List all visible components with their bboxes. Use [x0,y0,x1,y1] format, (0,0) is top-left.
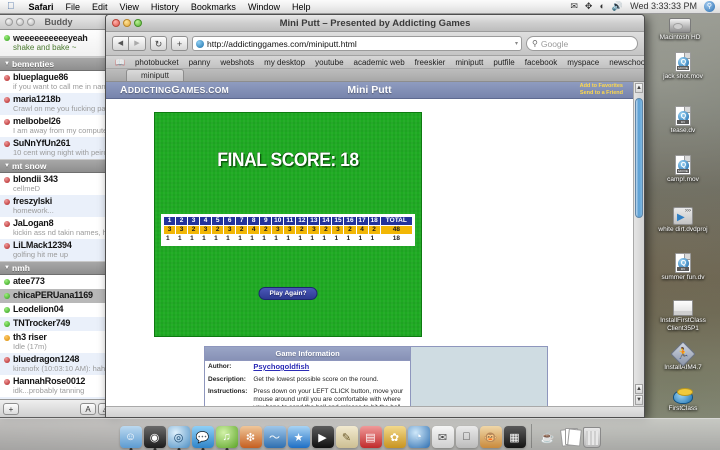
garageband-icon[interactable]: 〜 [264,426,286,448]
par-cell: 2 [344,226,356,235]
par-cell: 3 [224,226,236,235]
mail-icon[interactable]: ✉ [432,426,454,448]
desktop-icon-firstclass[interactable]: FirstClass [648,390,718,413]
buddy-row[interactable]: TNTrocker749 [0,317,117,331]
info-row-description: Description: Get the lowest possible sco… [205,374,410,386]
my-screen-name: weeeeeeeeeeyeah [13,33,113,43]
desktop-icon-summer-fun-dv[interactable]: QDV summer fun.dv [648,253,718,282]
hole-header: 7 [236,217,248,226]
hole-header: 9 [260,217,272,226]
hole-header: 13 [308,217,320,226]
buddy-row[interactable]: LiLMack12394 golfing hit me up [0,239,117,261]
par-cell: 4 [248,226,260,235]
hole-header: 2 [176,217,188,226]
desktop-icon-label: Macintosh HD [645,34,715,42]
play-again-button[interactable]: Play Again? [259,287,318,300]
desktop-icon-install-firstclass-client[interactable]: InstallFirstClass Client35P1 [648,300,718,332]
buddy-name: bluedragon1248 [13,354,115,364]
reload-icon[interactable]: ↻ [150,36,167,51]
game-information-left: Game Information Author: Psychogoldfish … [205,347,410,406]
score-cell: 1 [200,235,212,244]
hole-header: 8 [248,217,260,226]
hole-header: 15 [332,217,344,226]
score-cell: 1 [284,235,296,244]
bookmark-webshots[interactable]: webshots [215,58,259,67]
buddy-status: kiranofx (10:03:10 AM): haha, ni [13,364,115,373]
safari-window-title: Mini Putt – Presented by Addicting Games [106,18,644,29]
buddy-name: blueplague86 [13,72,115,82]
buddy-name: HannahRose0012 [13,376,115,386]
quicktime-dv-icon: QDV [675,253,691,273]
hole-header: 6 [224,217,236,226]
hole-header: 16 [344,217,356,226]
score-cell: 1 [320,235,332,244]
buddy-status: I am away from my computer right [13,126,115,135]
airport-icon[interactable]: ◐ [599,2,604,11]
web-page: ADDICTINGGAMES.COM Mini Putt Add to Favo… [106,82,633,406]
dashboard-icon[interactable]: ◉ [144,426,166,448]
buddy-name: freszylski [13,196,115,206]
back-arrow-icon[interactable]: ◀ [112,36,129,51]
desktop-icon-white-dirt-dvdproj[interactable]: white dirt.dvdproj [648,207,718,234]
ichat-icon[interactable]: 💬 [192,426,214,448]
my-screen-name-row[interactable]: weeeeeeeeeeyeah shake and bake ~ [0,30,117,57]
author-link[interactable]: Psychogoldfish [253,362,309,371]
desktop-icon-tease-dv[interactable]: QDV tease.dv [648,106,718,135]
add-buddy-button[interactable]: + [3,403,19,415]
bluetooth-icon[interactable]: ✥ [585,2,593,11]
info-label: Author: [205,361,250,374]
scorecard-par-row: 3 3 2 3 2 3 2 4 2 3 3 2 3 [164,226,413,235]
score-cell: 1 [272,235,284,244]
par-cell: 4 [356,226,368,235]
buddy-group-bementies[interactable]: ▼ bementies [0,57,117,71]
menu-item-edit[interactable]: Edit [86,2,114,12]
desktop-icon-label: tease.dv [648,127,718,135]
bookmark-youtube[interactable]: youtube [310,58,348,67]
presence-dot-idle [4,335,10,341]
buddy-name: SuNnYfUn261 [13,138,115,148]
presence-dot-online [4,321,10,327]
volume-icon[interactable]: 🔊 [612,2,623,11]
page-horizontal-scrollbar[interactable] [106,406,644,417]
buddy-status: Crawl on me you fucking parasite [13,104,115,113]
buddy-row[interactable]: th3 riser Idle (17m) [0,331,117,353]
safari-toolbar: ◀ ▶ ↻ + http://addictinggames.com/minipu… [106,32,644,56]
hole-header: 5 [212,217,224,226]
hole-header: 10 [272,217,284,226]
hole-header: 18 [368,217,380,226]
hole-header: 17 [356,217,368,226]
menubar-clock[interactable]: Wed 3:33:33 PM [630,2,697,11]
group-label: bementies [12,59,54,69]
chevron-down-icon: ▼ [4,61,10,67]
score-cell: 1 [260,235,272,244]
scorecard-table: 1 2 3 4 5 6 7 8 9 10 11 12 13 [163,216,413,244]
desktop-icon-label: InstallFirstClass Client35P1 [648,317,718,332]
buddy-status: golfing hit me up [13,250,115,259]
preview-icon[interactable]: ✿ [384,426,406,448]
group-label: mt snow [12,161,46,171]
aim-icon[interactable]: 🐵 [480,426,502,448]
buddy-status: homework... [13,206,115,215]
par-cell: 3 [308,226,320,235]
page-title: Mini Putt [106,84,633,96]
add-to-favorites-link[interactable]: Add to Favorites [580,83,623,90]
header-links: Add to Favorites Send to a Friend [580,83,623,97]
scroll-up-arrow-icon-bottom[interactable]: ▲ [635,384,643,394]
search-placeholder: Google [541,39,568,49]
game-information-panel: Game Information Author: Psychogoldfish … [204,346,548,406]
info-value: Psychogoldfish [250,361,410,374]
safari-titlebar[interactable]: Mini Putt – Presented by Addicting Games [106,15,644,32]
par-cell: 3 [200,226,212,235]
buddy-status: 10 cent wing night with peirce and [13,148,115,157]
score-cell: 1 [212,235,224,244]
scorecard-score-row: 1 1 1 1 1 1 1 1 1 1 1 1 1 [164,235,413,244]
par-cell: 3 [176,226,188,235]
buddy-row[interactable]: freszylski homework... [0,195,117,217]
dock-separator [531,424,532,448]
buddy-name: melbobel26 [13,116,115,126]
presence-dot-online [4,293,10,299]
buddy-name: TNTrocker749 [13,318,115,328]
score-cell: 1 [224,235,236,244]
tab-bar: miniputt [106,69,644,82]
score-cell: 1 [308,235,320,244]
buddylist-titlebar[interactable]: Buddy [0,15,117,30]
hole-header: 3 [188,217,200,226]
menu-item-window[interactable]: Window [242,2,286,12]
mail-icon[interactable]: ✉ [570,2,578,11]
itunes-icon[interactable]: ♫ [216,426,238,448]
buddy-row[interactable]: blueplague86 if you want to call me in n… [0,71,117,93]
score-cell: 1 [368,235,380,244]
desktop-icon-camp-mov[interactable]: QMOVIE camp!.mov [648,155,718,184]
presence-dot-away [4,199,10,205]
menu-bar:  Safari File Edit View History Bookmark… [0,0,720,14]
group-label: nmh [12,263,30,273]
scroll-up-arrow-icon[interactable]: ▲ [635,83,643,93]
firstclass-icon [673,390,693,404]
bookmark-miniputt[interactable]: miniputt [450,58,488,67]
ical-icon[interactable]: ▤ [360,426,382,448]
buddylist-footer: + A ⚠ [0,399,117,417]
buddy-name: blondii 343 [13,174,115,184]
par-cell: 2 [212,226,224,235]
hole-header: 1 [164,217,176,226]
buddy-status: idk...probably tanning [13,386,115,395]
chevron-down-icon: ▼ [4,163,10,169]
address-bar-url: http://addictinggames.com/miniputt.html [207,39,357,49]
my-away-message: shake and bake ~ [13,43,113,52]
presence-dot-away [4,221,10,227]
documents-stack-icon[interactable] [561,426,581,448]
buddy-row[interactable]: Leodelion04 [0,303,117,317]
par-total: 48 [380,226,412,235]
par-cell: 3 [164,226,176,235]
bookmark-my-desktop[interactable]: my desktop [259,58,310,67]
presence-dot-away [4,379,10,385]
bookmark-putfile[interactable]: putfile [488,58,519,67]
buddy-status: cellmeD [13,184,115,193]
buddy-name: Mark112790 [13,398,115,399]
hole-header: 12 [296,217,308,226]
par-cell: 2 [296,226,308,235]
desktop-icon-label: jack shot.mov [648,73,718,81]
idvd-icon[interactable]: ▶ [312,426,334,448]
quicktime-movie-icon: QMOVIE [675,155,691,175]
harddrive-icon [669,18,691,33]
presence-dot-away [4,75,10,81]
iphoto-icon[interactable]: ❇ [240,426,262,448]
buddy-status: kickin ass nd takin names, hit me [13,228,115,237]
chevron-down-icon[interactable]: ▾ [515,40,518,47]
buddy-row[interactable]: atee773 [0,275,117,289]
desktop-icon-label: summer fun.dv [648,274,718,282]
score-cell: 1 [332,235,344,244]
buddy-status: Idle (17m) [13,342,115,351]
spotlight-icon[interactable]: ⚲ [704,1,715,12]
presence-dot-away [4,177,10,183]
finder-icon[interactable]: ☺ [120,426,142,448]
par-cell: 2 [236,226,248,235]
bookmark-photobucket[interactable]: photobucket [130,58,184,67]
buddy-group-nmh[interactable]: ▼ nmh [0,261,117,275]
desktop-icon-install-aim[interactable]: 🏃 InstallAIM4.7 [648,345,718,372]
par-cell: 3 [272,226,284,235]
coffee-icon[interactable]: ☕ [537,426,559,448]
favicon-icon [196,40,204,48]
buddy-list-scroll-area[interactable]: ▼ bementies blueplague86 if you want to … [0,57,117,399]
hole-header: 4 [200,217,212,226]
hole-header: 14 [320,217,332,226]
book-icon[interactable]: 📖 [110,58,130,67]
score-cell: 1 [296,235,308,244]
par-cell: 3 [332,226,344,235]
game-information-ad-area [410,347,547,406]
buddy-group-mt-snow[interactable]: ▼ mt snow [0,159,117,173]
info-row-instructions: Instructions: Press down on your LEFT CL… [205,386,410,406]
par-cell: 3 [284,226,296,235]
score-cell: 1 [164,235,176,244]
plus-icon[interactable]: + [171,36,188,51]
font-button[interactable]: A [80,403,96,415]
buddy-name: maria1218b [13,94,115,104]
score-cell: 1 [176,235,188,244]
quicktime-movie-icon: QMOVIE [675,52,691,72]
bookmark-facebook[interactable]: facebook [520,58,562,67]
par-cell: 2 [188,226,200,235]
final-score-text: FINAL SCORE: 18 [166,150,411,172]
search-input[interactable]: ⚲ Google [526,36,638,51]
browser-content: ADDICTINGGAMES.COM Mini Putt Add to Favo… [106,82,644,406]
dock: ☺ ◉ ◎ 💬 ♫ ❇ 〜 ★ ▶ ✎ ▤ ✿ ◔ ✉  🐵 ▦ ☕ [0,418,720,450]
trash-icon[interactable] [583,427,601,448]
buddy-row[interactable]: JaLogan8 kickin ass nd takin names, hit … [0,217,117,239]
safari-window[interactable]: Mini Putt – Presented by Addicting Games… [105,14,645,418]
sherlock-icon[interactable]: ◔ [408,426,430,448]
magnifier-icon: ⚲ [532,39,538,48]
total-header: TOTAL [380,217,412,226]
address-bar[interactable]: http://addictinggames.com/miniputt.html … [192,36,522,51]
desktop-icon-jack-shot-mov[interactable]: QMOVIE jack shot.mov [648,52,718,81]
presence-dot-online [4,307,10,313]
bookmarks-bar: 📖 photobucket panny webshots my desktop … [106,56,644,69]
bookmark-freeskier[interactable]: freeskier [410,58,451,67]
menu-item-history[interactable]: History [145,2,185,12]
menu-item-view[interactable]: View [114,2,145,12]
buddy-name: atee773 [13,276,115,286]
score-cell: 1 [188,235,200,244]
desktop-icon-label: FirstClass [648,405,718,413]
installer-package-icon [673,300,693,316]
par-cell: 2 [260,226,272,235]
safari-icon[interactable]: ◎ [168,426,190,448]
buddy-name: Leodelion04 [13,304,115,314]
score-cell: 1 [344,235,356,244]
par-cell: 2 [368,226,380,235]
imovie-icon[interactable]: ★ [288,426,310,448]
quicktime-icon[interactable]: ▦ [504,426,526,448]
presence-dot-away [4,141,10,147]
tab-miniputt[interactable]: miniputt [126,69,184,81]
send-to-a-friend-link[interactable]: Send to a Friend [580,90,623,97]
apple-icon[interactable]:  [7,2,15,12]
aim-buddy-list-window[interactable]: Buddy weeeeeeeeeeyeah shake and bake ~ ▼… [0,14,118,418]
buddy-name: th3 riser [13,332,115,342]
info-value: Get the lowest possible score on the rou… [250,374,410,386]
buddy-row[interactable]: HannahRose0012 idk...probably tanning [0,375,117,397]
buddy-row-selected[interactable]: chicaPERUana1169 [0,289,117,303]
game-information-header: Game Information [205,347,410,361]
buddy-row[interactable]: blondii 343 cellmeD [0,173,117,195]
site-header: ADDICTINGGAMES.COM Mini Putt Add to Favo… [106,82,633,99]
info-label: Description: [205,374,250,386]
idvd-project-icon [673,207,693,225]
buddy-row[interactable]: bluedragon1248 kiranofx (10:03:10 AM): h… [0,353,117,375]
info-value: Press down on your LEFT CLICK button, mo… [250,386,410,406]
par-cell: 2 [320,226,332,235]
scroll-down-arrow-icon[interactable]: ▼ [635,395,643,405]
score-total: 18 [380,235,412,244]
presence-dot-online [4,35,10,41]
presence-dot-away [4,119,10,125]
bookmark-newschoolers[interactable]: newschoolers [604,58,644,67]
scrollbar-thumb[interactable] [635,98,643,218]
buddy-name: JaLogan8 [13,218,115,228]
game-information-table: Author: Psychogoldfish Description: Get … [205,361,410,406]
page-vertical-scrollbar[interactable]: ▲ ▲ ▼ [633,82,644,406]
buddy-row[interactable]: Mark112790 She came into town and then s… [0,397,117,399]
presence-dot-away [4,357,10,363]
score-cell: 1 [356,235,368,244]
bookmark-academic-web[interactable]: academic web [349,58,410,67]
bookmark-myspace[interactable]: myspace [562,58,604,67]
system-preferences-icon[interactable]:  [456,426,478,448]
quicktime-dv-icon: QDV [675,106,691,126]
game-canvas[interactable]: FINAL SCORE: 18 1 2 3 4 5 6 7 8 9 [154,112,422,337]
bookmark-panny[interactable]: panny [184,58,216,67]
menu-item-help[interactable]: Help [286,2,317,12]
textedit-icon[interactable]: ✎ [336,426,358,448]
presence-dot-online [4,279,10,285]
buddylist-title: Buddy [0,17,117,27]
scorecard-header-row: 1 2 3 4 5 6 7 8 9 10 11 12 13 [164,217,413,226]
aim-installer-icon: 🏃 [674,345,692,363]
chevron-down-icon: ▼ [4,265,10,271]
presence-dot-away [4,243,10,249]
desktop-icon-macintosh-hd[interactable]: Macintosh HD [645,18,715,42]
buddy-name: LiLMack12394 [13,240,115,250]
menu-item-bookmarks[interactable]: Bookmarks [185,2,242,12]
forward-arrow-icon[interactable]: ▶ [129,36,146,51]
desktop-icon-label: camp!.mov [648,176,718,184]
buddy-row[interactable]: melbobel26 I am away from my computer ri… [0,115,117,137]
info-label: Instructions: [205,386,250,406]
desktop-icon-label: white dirt.dvdproj [648,226,718,234]
presence-dot-away [4,97,10,103]
info-row-author: Author: Psychogoldfish [205,361,410,374]
buddy-row[interactable]: SuNnYfUn261 10 cent wing night with peir… [0,137,117,159]
score-cell: 1 [248,235,260,244]
hole-header: 11 [284,217,296,226]
score-cell: 1 [236,235,248,244]
buddy-row[interactable]: maria1218b Crawl on me you fucking paras… [0,93,117,115]
menu-item-safari[interactable]: Safari [23,2,60,12]
scorecard: 1 2 3 4 5 6 7 8 9 10 11 12 13 [161,214,415,246]
buddy-status: if you want to call me in nantucket [13,82,115,91]
menu-item-file[interactable]: File [60,2,87,12]
buddy-name: chicaPERUana1169 [13,290,115,300]
